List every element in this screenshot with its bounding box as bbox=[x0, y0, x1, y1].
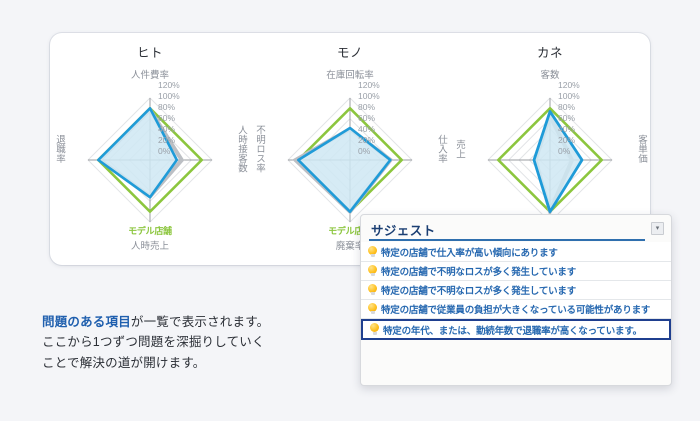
list-item[interactable]: 特定の店舗で不明なロスが多く発生しています bbox=[361, 281, 671, 300]
radar-plot-mono[interactable] bbox=[275, 85, 425, 235]
caption-line-2: ここから1つずつ問題を深掘りしていく bbox=[42, 332, 342, 352]
radar-plot-kane[interactable] bbox=[475, 85, 625, 235]
axis-label-bottom-hito: 人時売上 bbox=[50, 238, 250, 252]
caption-line-3: ことで解決の道が開けます。 bbox=[42, 353, 342, 373]
suggest-item-label: 特定の店舗で不明なロスが多く発生しています bbox=[381, 264, 576, 278]
lightbulb-icon bbox=[367, 284, 378, 297]
list-item-selected[interactable]: 特定の年代、または、勤続年数で退職率が高くなっています。 bbox=[361, 319, 671, 340]
chevron-down-icon[interactable]: ▾ bbox=[651, 222, 664, 235]
suggest-item-label: 特定の店舗で不明なロスが多く発生しています bbox=[381, 283, 576, 297]
suggest-list: 特定の店舗で仕入率が高い傾向にあります 特定の店舗で不明なロスが多く発生していま… bbox=[361, 242, 671, 340]
caption-highlight: 問題のある項目 bbox=[42, 315, 131, 329]
radar-plot-hito[interactable] bbox=[75, 85, 225, 235]
axis-label-top-hito: 人件費率 bbox=[50, 67, 250, 81]
chart-title-mono: モノ bbox=[250, 42, 450, 61]
lightbulb-icon bbox=[367, 265, 378, 278]
axis-label-left-kane: 売上 bbox=[454, 140, 464, 159]
lightbulb-icon bbox=[367, 246, 378, 259]
list-item[interactable]: 特定の店舗で不明なロスが多く発生しています bbox=[361, 262, 671, 281]
caption-line-1: 問題のある項目が一覧で表示されます。 bbox=[42, 312, 342, 332]
caption-block: 問題のある項目が一覧で表示されます。 ここから1つずつ問題を深掘りしていく こと… bbox=[42, 312, 342, 373]
radar-svg-kane bbox=[475, 85, 625, 235]
suggest-item-label: 特定の店舗で従業員の負担が大きくなっている可能性があります bbox=[381, 302, 650, 316]
list-item[interactable]: 特定の店舗で仕入率が高い傾向にあります bbox=[361, 243, 671, 262]
axis-label-right-mono: 仕入率 bbox=[436, 135, 446, 164]
chart-title-kane: カネ bbox=[450, 42, 650, 61]
list-item[interactable]: 特定の店舗で従業員の負担が大きくなっている可能性があります bbox=[361, 300, 671, 319]
suggest-panel[interactable]: サジェスト ▾ 特定の店舗で仕入率が高い傾向にあります 特定の店舗で不明なロスが… bbox=[360, 214, 672, 386]
lightbulb-icon bbox=[367, 303, 378, 316]
axis-label-right-kane: 客単価 bbox=[636, 135, 646, 164]
lightbulb-icon bbox=[369, 323, 380, 336]
legend-model-hito: モデル店舗 bbox=[50, 224, 250, 237]
axis-label-top-mono: 在庫回転率 bbox=[250, 67, 450, 81]
axis-label-left-hito: 退職率 bbox=[54, 135, 64, 164]
suggest-item-label: 特定の年代、または、勤続年数で退職率が高くなっています。 bbox=[383, 323, 642, 337]
radar-svg-mono bbox=[275, 85, 425, 235]
suggest-header: サジェスト ▾ bbox=[361, 215, 671, 242]
axis-label-left-mono: 不明ロス率 bbox=[254, 125, 264, 173]
caption-line-1-rest: が一覧で表示されます。 bbox=[131, 315, 269, 329]
axis-label-right-hito: 人時接客数 bbox=[236, 125, 246, 173]
suggest-item-label: 特定の店舗で仕入率が高い傾向にあります bbox=[381, 245, 558, 259]
chart-title-hito: ヒト bbox=[50, 42, 250, 61]
axis-label-top-kane: 客数 bbox=[450, 67, 650, 81]
suggest-header-underline bbox=[369, 239, 645, 241]
radar-chart-hito[interactable]: ヒト 人件費率 退職率 人時接客数 bbox=[50, 33, 250, 265]
suggest-title: サジェスト bbox=[371, 224, 436, 238]
radar-svg-hito bbox=[75, 85, 225, 235]
